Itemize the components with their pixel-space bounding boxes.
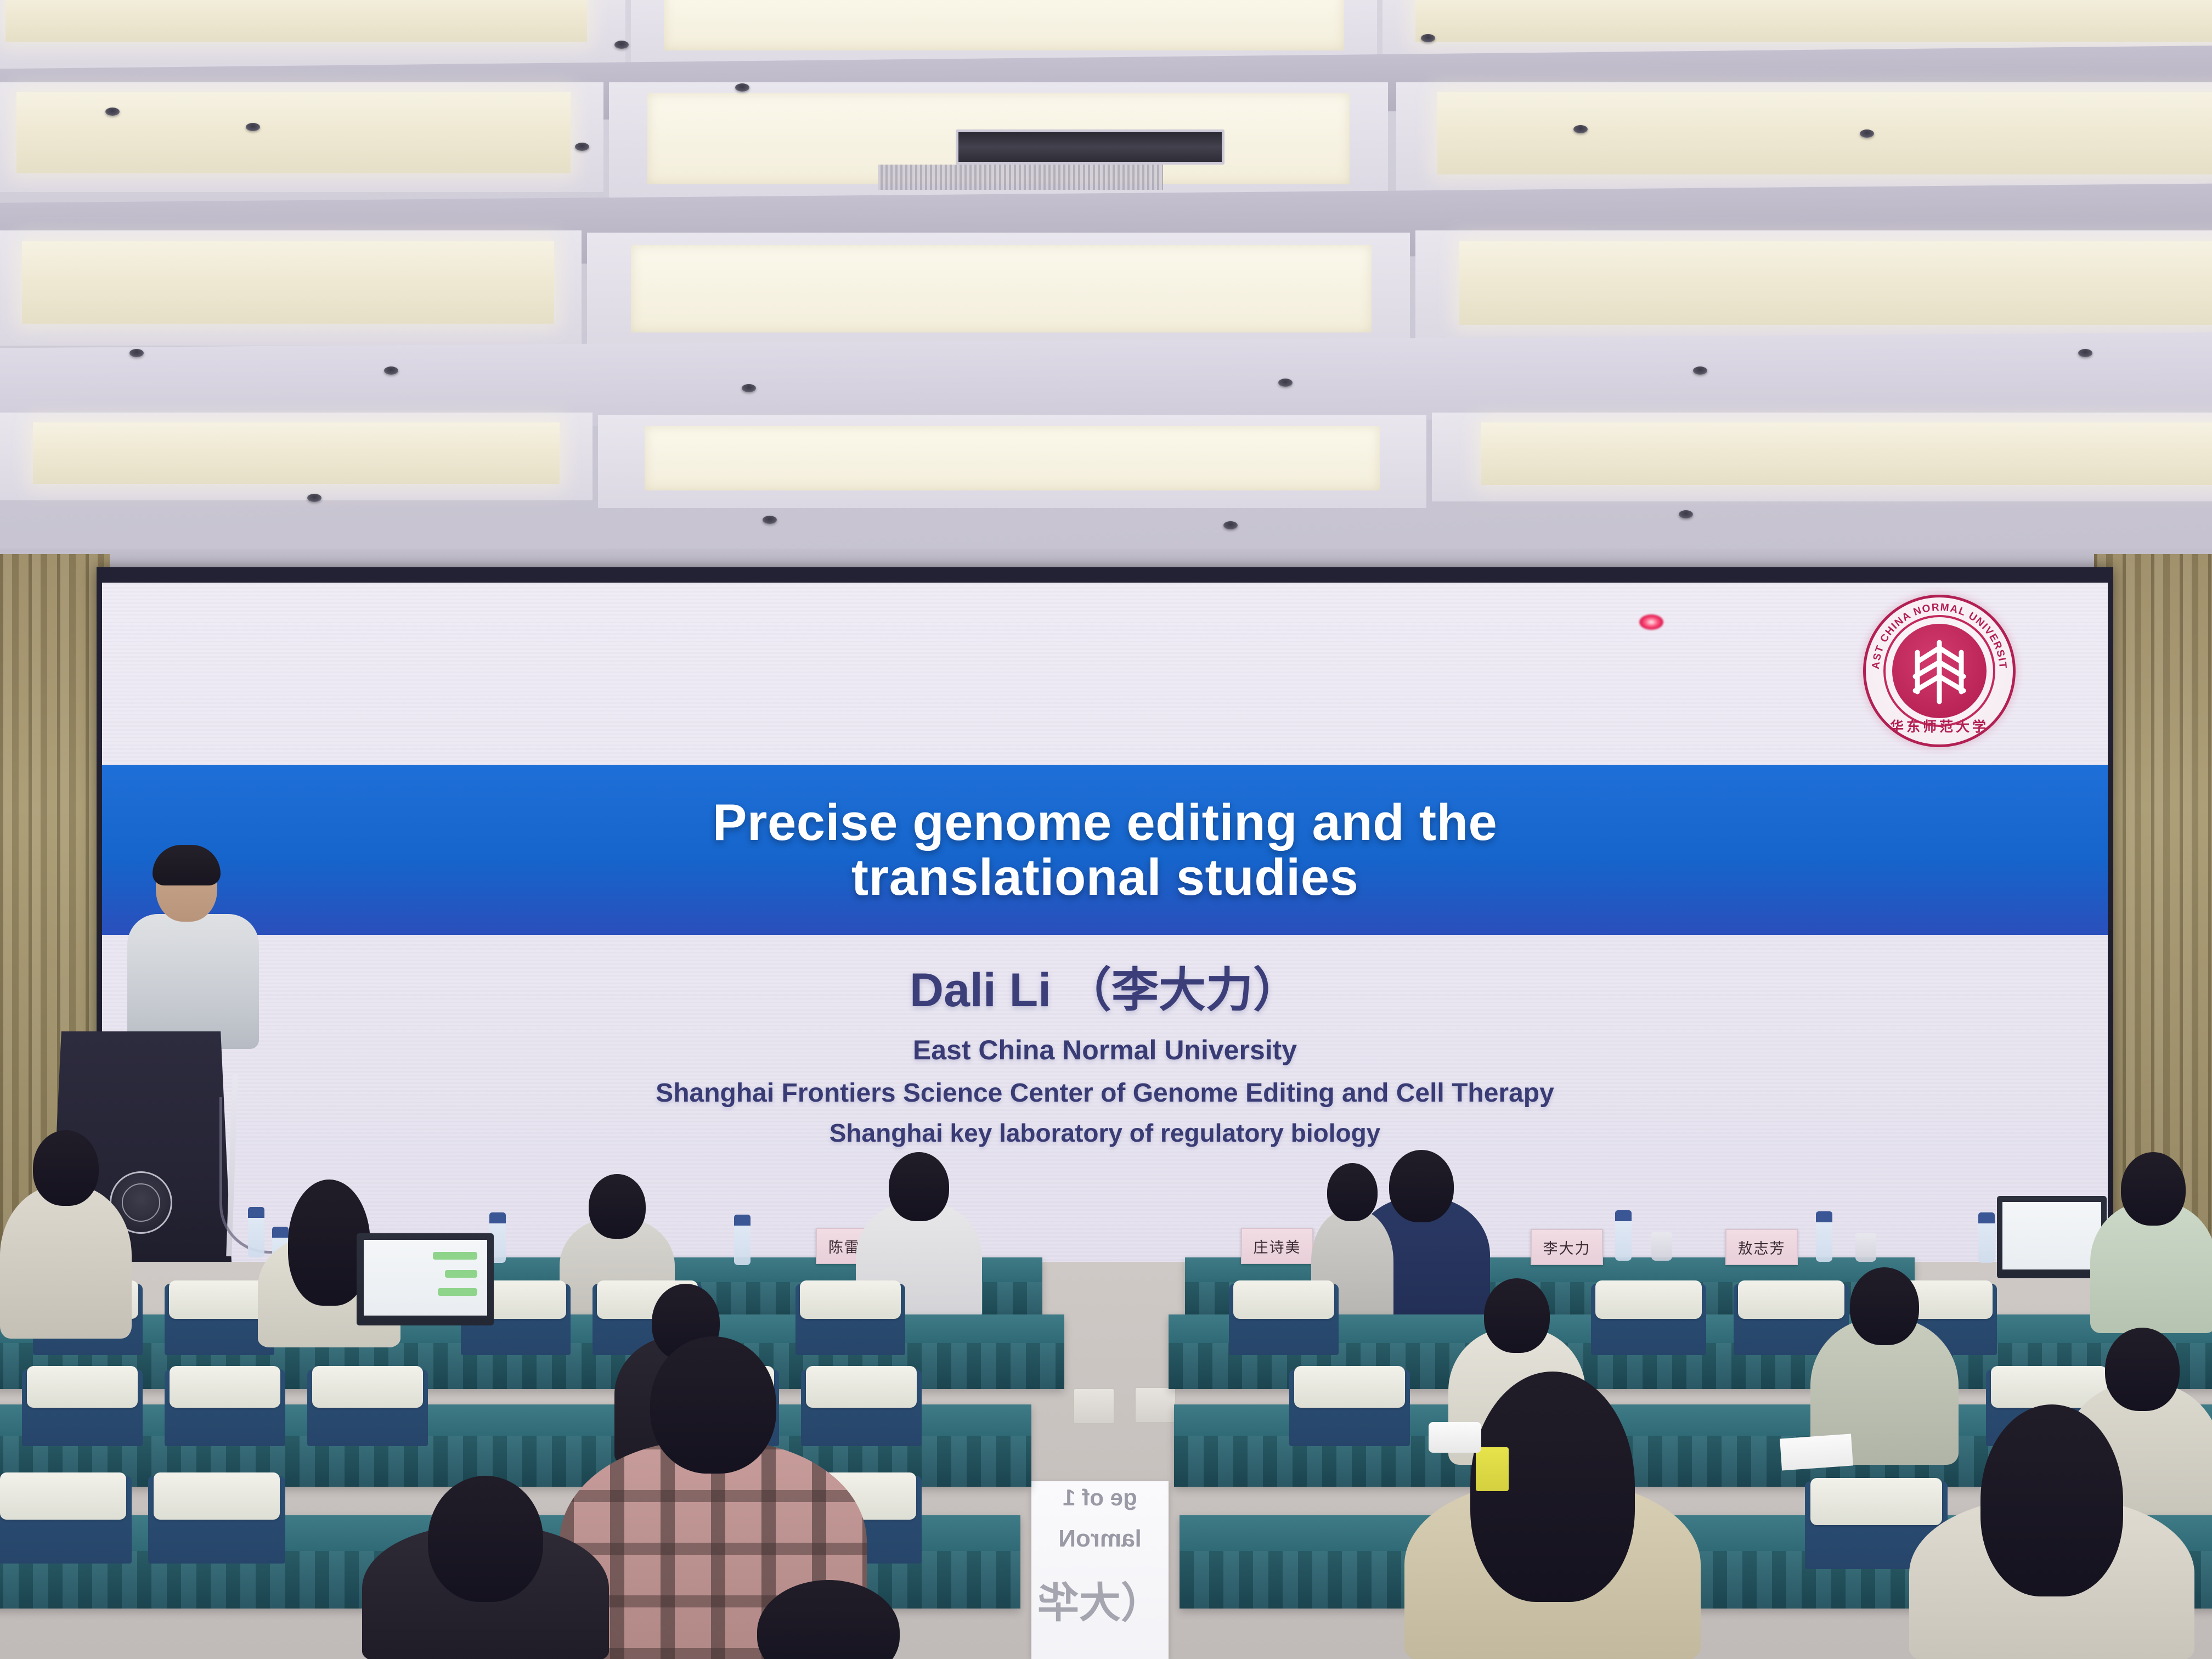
slide-title: Precise genome editing and the translati…	[652, 795, 1558, 904]
water-bottle	[1615, 1210, 1632, 1261]
name-placard: 敖志芳	[1725, 1229, 1798, 1265]
slide-title-line-2: translational studies	[713, 850, 1498, 905]
downlight-icon	[307, 494, 321, 502]
person-head-long-hair	[1980, 1404, 2123, 1596]
audience-chair	[1229, 1284, 1339, 1355]
audience-person	[0, 1130, 132, 1339]
audience-chair	[165, 1369, 285, 1446]
presenter-person	[127, 849, 259, 1047]
downlight-icon	[1679, 510, 1693, 518]
person-head	[1389, 1150, 1454, 1222]
downlight-icon	[1223, 521, 1238, 529]
person-head	[757, 1580, 900, 1659]
presenter-torso	[127, 914, 259, 1049]
person-head	[2121, 1152, 2186, 1226]
ceiling-linear-diffuser	[956, 129, 1224, 165]
ceiling	[0, 0, 2212, 554]
water-bottle	[1978, 1212, 1995, 1263]
chair-headrest	[169, 1280, 270, 1319]
chair-headrest	[0, 1472, 126, 1520]
ceiling-air-vent	[878, 165, 1163, 190]
projection-screen: EAST CHINA NORMAL UNIVERSITY 华东师范大学 Prec…	[102, 583, 2108, 1268]
drinking-cup	[1855, 1233, 1876, 1262]
person-head	[650, 1336, 776, 1474]
person-head	[33, 1130, 99, 1206]
ceiling-light-panel	[22, 241, 554, 324]
presenter-block: Dali Li （李大力） East China Normal Universi…	[102, 951, 2108, 1148]
downlight-icon	[246, 123, 260, 131]
audience-chair	[1591, 1284, 1706, 1355]
ceiling-light-panel	[1459, 241, 2212, 325]
audience-chair	[148, 1476, 285, 1564]
downlight-icon	[575, 143, 589, 151]
ceiling-light-panel	[664, 0, 1344, 50]
ceiling-light-panel	[5, 0, 587, 42]
laptop-screen	[2002, 1202, 2101, 1269]
chair-headrest	[170, 1366, 280, 1408]
chair-headrest	[1595, 1280, 1701, 1319]
audience-person	[1404, 1372, 1701, 1659]
lecture-hall-scene: EAST CHINA NORMAL UNIVERSITY 华东师范大学 Prec…	[0, 0, 2212, 1659]
downlight-icon	[763, 516, 777, 524]
slide-title-band: Precise genome editing and the translati…	[102, 765, 2108, 935]
audience-chair	[22, 1369, 143, 1446]
audience-chair	[1289, 1369, 1410, 1446]
water-bottle	[734, 1215, 751, 1265]
person-head	[1327, 1163, 1378, 1221]
chair-headrest	[312, 1366, 423, 1408]
ecnu-logo: EAST CHINA NORMAL UNIVERSITY 华东师范大学	[1863, 595, 2016, 747]
person-head	[2105, 1328, 2180, 1411]
paper-sheet	[1780, 1434, 1853, 1471]
paper-sign: ge of 1 lamroN （大华	[1031, 1481, 1169, 1659]
person-head	[889, 1152, 949, 1221]
ceiling-light-panel	[1415, 0, 2212, 42]
downlight-icon	[1278, 379, 1293, 387]
presenter-hair	[153, 845, 221, 885]
audience-person	[713, 1580, 944, 1659]
audience-chair	[0, 1476, 132, 1564]
chair-headrest	[1233, 1280, 1334, 1319]
downlight-icon	[1693, 366, 1707, 375]
ceiling-light-panel	[33, 422, 560, 484]
ceiling-light-panel	[1481, 422, 2212, 485]
paper-sign-line-2: lamroN	[1031, 1525, 1169, 1553]
downlight-icon	[614, 41, 629, 49]
affiliation-line-2: Shanghai Frontiers Science Center of Gen…	[102, 1078, 2108, 1108]
downlight-icon	[742, 384, 756, 392]
ceiling-light-panel	[1437, 92, 2212, 174]
chair-headrest	[154, 1472, 280, 1520]
juice-box	[1476, 1447, 1509, 1491]
audience-chair	[307, 1369, 428, 1446]
laser-pointer-dot	[1639, 614, 1663, 630]
ceiling-light-panel	[631, 245, 1372, 332]
downlight-icon	[1421, 34, 1435, 42]
paper-sign-line-3: （大华	[1031, 1569, 1169, 1629]
drinking-cup	[1651, 1232, 1672, 1261]
ceiling-light-panel	[645, 426, 1380, 490]
svg-text:EAST CHINA NORMAL UNIVERSITY: EAST CHINA NORMAL UNIVERSITY	[1866, 597, 2008, 670]
downlight-icon	[105, 108, 120, 116]
person-torso	[0, 1185, 132, 1339]
presenter-name: Dali Li （李大力）	[102, 951, 2108, 1020]
slide-title-line-1: Precise genome editing and the	[713, 795, 1498, 850]
water-bottle	[248, 1207, 264, 1257]
affiliation-line-3: Shanghai key laboratory of regulatory bi…	[102, 1118, 2108, 1148]
ceiling-light-panel	[16, 92, 571, 173]
tissue	[1429, 1422, 1481, 1453]
name-placard: 李大力	[1531, 1229, 1603, 1265]
person-head	[1850, 1267, 1919, 1345]
water-bottle	[1816, 1211, 1832, 1262]
downlight-icon	[384, 366, 398, 375]
paper-sign-line-1: ge of 1	[1031, 1485, 1169, 1511]
downlight-icon	[2078, 349, 2092, 357]
person-head	[1484, 1278, 1550, 1353]
downlight-icon	[129, 349, 144, 357]
downlight-icon	[1573, 125, 1588, 133]
ecnu-logo-chinese-text: 华东师范大学	[1866, 716, 2013, 736]
audience-person	[2090, 1152, 2212, 1333]
chair-headrest	[1294, 1366, 1405, 1408]
downlight-icon	[735, 83, 749, 92]
audience-person	[362, 1476, 609, 1659]
affiliation-line-1: East China Normal University	[102, 1034, 2108, 1066]
person-head	[589, 1174, 646, 1239]
laptop	[357, 1233, 494, 1325]
wall-outlet	[1073, 1388, 1115, 1424]
chair-headrest	[800, 1280, 901, 1319]
downlight-icon	[1860, 129, 1874, 138]
person-head	[428, 1476, 543, 1602]
name-placard: 庄诗美	[1241, 1228, 1313, 1264]
audience-person	[1909, 1404, 2194, 1659]
wall-outlet	[1135, 1387, 1176, 1423]
chair-headrest	[27, 1366, 138, 1408]
laptop-screen	[364, 1240, 487, 1316]
